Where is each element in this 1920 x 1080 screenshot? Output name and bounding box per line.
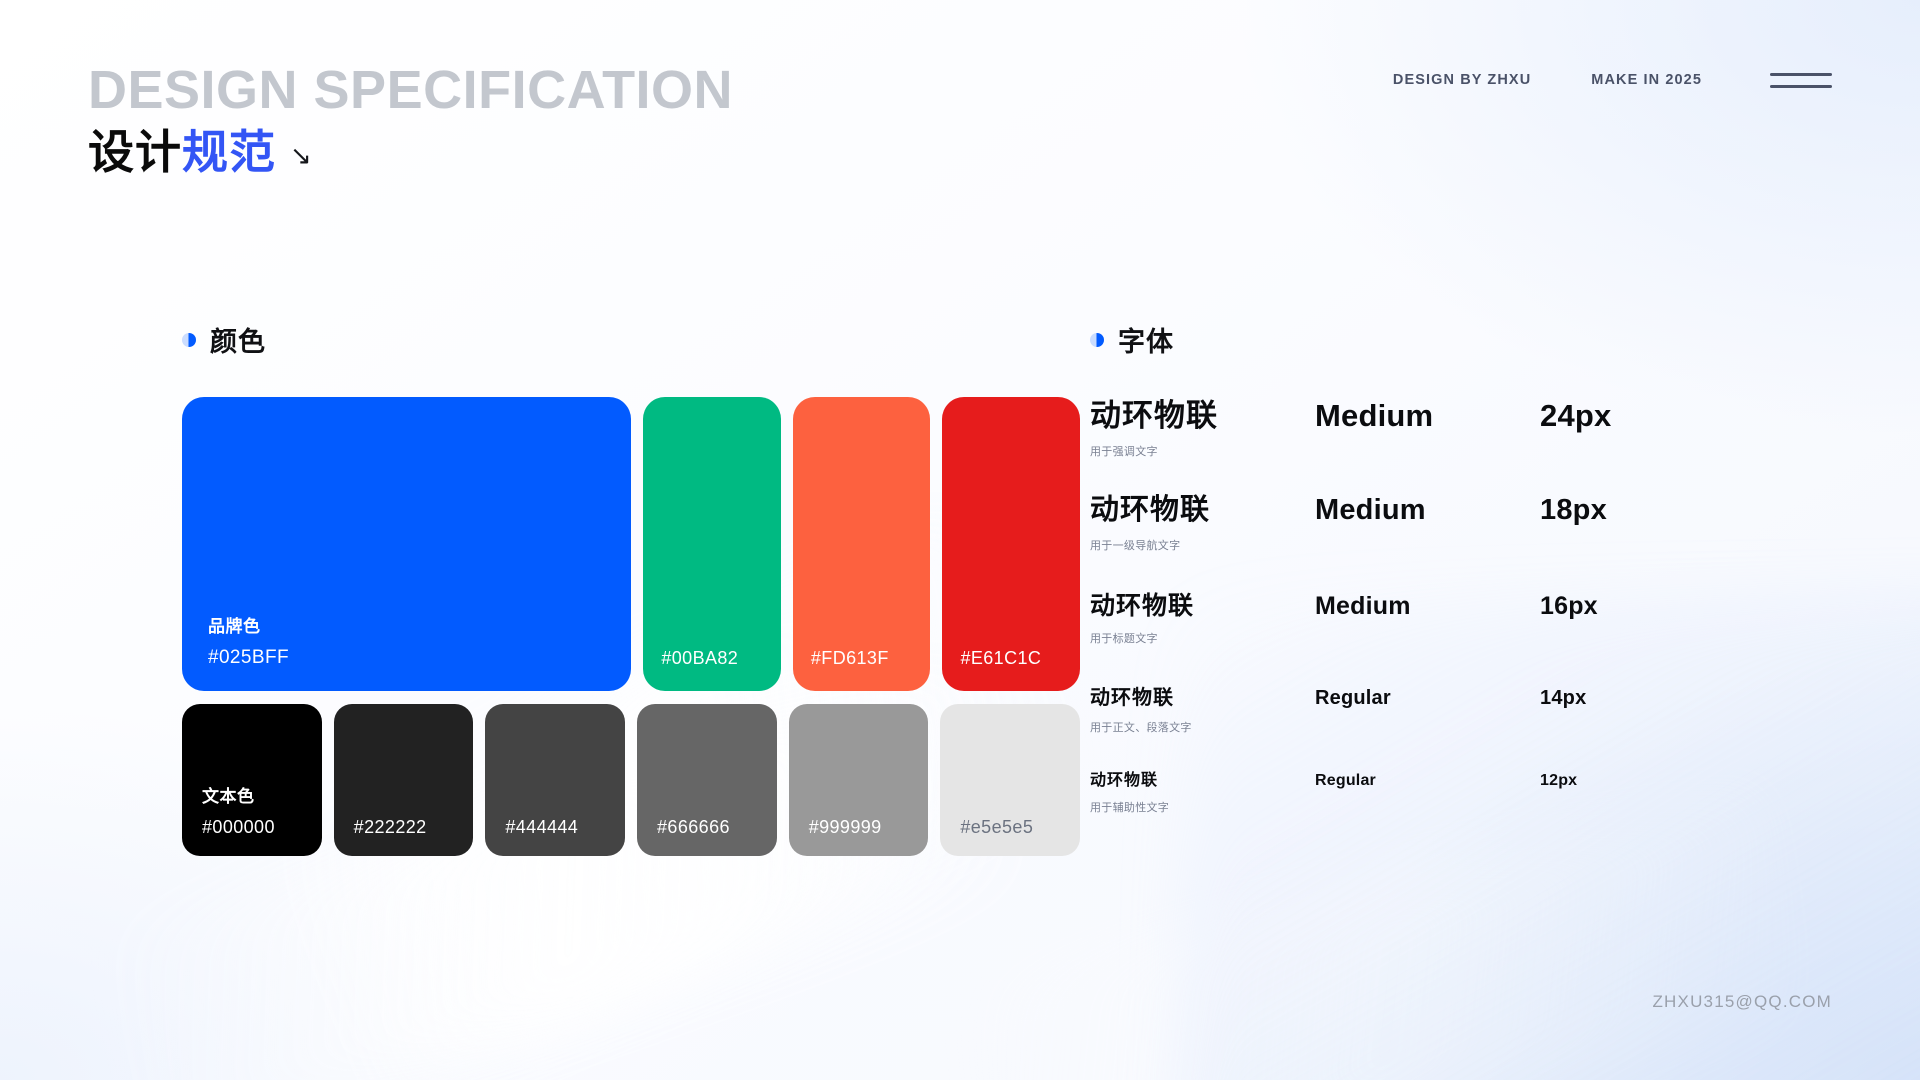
color-swatch-hex: #222222 [354, 817, 474, 838]
typography-sample-cell: 动环物联 用于正文、段落文字 [1090, 686, 1315, 735]
typography-row: 动环物联 用于正文、段落文字 Regular 14px [1090, 686, 1920, 735]
colors-panel: 颜色 品牌色 #025BFF #00BA82 #FD613F #E61C1C [0, 320, 1080, 856]
typography-sample-text: 动环物联 [1090, 397, 1315, 434]
typography-weight: Medium [1315, 397, 1540, 434]
color-swatch-neutral[interactable]: #444444 [485, 704, 625, 856]
typography-sample-cell: 动环物联 用于辅助性文字 [1090, 771, 1315, 815]
color-swatch-neutral[interactable]: 文本色 #000000 [182, 704, 322, 856]
color-swatch-name: 品牌色 [208, 612, 631, 637]
typography-size: 12px [1540, 771, 1577, 790]
title-block: DESIGN SPECIFICATION 设计规范 ↘ [88, 62, 733, 178]
page-title-cn-row: 设计规范 ↘ [88, 127, 733, 179]
dot-icon [1090, 333, 1104, 347]
typography-row: 动环物联 用于辅助性文字 Regular 12px [1090, 771, 1920, 815]
color-swatch-hex: #666666 [657, 817, 777, 838]
typography-sample-text: 动环物联 [1090, 591, 1315, 621]
typography-weight: Medium [1315, 591, 1540, 621]
dot-icon [182, 333, 196, 347]
typography-section-header: 字体 [1090, 320, 1920, 359]
typography-sample-text: 动环物联 [1090, 771, 1315, 790]
typography-row: 动环物联 用于强调文字 Medium 24px [1090, 397, 1920, 459]
header-meta: DESIGN BY ZHXU MAKE IN 2025 [1393, 72, 1832, 88]
typography-size: 18px [1540, 493, 1607, 528]
typography-usage-note: 用于一级导航文字 [1090, 537, 1315, 553]
typography-weight: Medium [1315, 493, 1540, 528]
typography-usage-note: 用于正文、段落文字 [1090, 719, 1315, 735]
color-swatch-row-neutral: 文本色 #000000 #222222 #444444 #666666 #999… [182, 704, 1080, 856]
colors-section-title: 颜色 [210, 320, 266, 359]
typography-size: 24px [1540, 397, 1611, 434]
typography-section-title: 字体 [1118, 320, 1174, 359]
color-swatch-hex: #444444 [505, 817, 625, 838]
typography-sample-cell: 动环物联 用于一级导航文字 [1090, 493, 1315, 553]
typography-panel: 字体 动环物联 用于强调文字 Medium 24px 动环物联 用于一级导航文字… [1080, 320, 1920, 856]
typography-sample-cell: 动环物联 用于标题文字 [1090, 591, 1315, 646]
colors-section-header: 颜色 [182, 320, 1080, 359]
header-year-credit: MAKE IN 2025 [1591, 72, 1702, 88]
page-title-cn: 设计规范 [88, 127, 276, 179]
color-swatch-accent[interactable]: #00BA82 [643, 397, 781, 691]
typography-usage-note: 用于标题文字 [1090, 630, 1315, 646]
arrow-down-right-icon: ↘ [290, 142, 312, 178]
color-swatch-row-primary: 品牌色 #025BFF #00BA82 #FD613F #E61C1C [182, 397, 1080, 691]
hamburger-line [1770, 85, 1832, 88]
typography-usage-note: 用于强调文字 [1090, 443, 1315, 459]
color-swatch-hex: #E61C1C [960, 648, 1080, 669]
typography-row: 动环物联 用于标题文字 Medium 16px [1090, 591, 1920, 646]
color-swatch-accent[interactable]: #FD613F [793, 397, 931, 691]
hamburger-line [1770, 73, 1832, 76]
typography-size: 14px [1540, 686, 1586, 710]
main-content: 颜色 品牌色 #025BFF #00BA82 #FD613F #E61C1C [0, 320, 1920, 856]
page-title-cn-primary: 设计 [88, 126, 182, 178]
color-swatch-neutral[interactable]: #222222 [334, 704, 474, 856]
page-header: DESIGN SPECIFICATION 设计规范 ↘ DESIGN BY ZH… [0, 0, 1920, 200]
color-swatch-neutral[interactable]: #666666 [637, 704, 777, 856]
color-swatch-accent[interactable]: #E61C1C [942, 397, 1080, 691]
typography-row: 动环物联 用于一级导航文字 Medium 18px [1090, 493, 1920, 553]
color-swatch-neutral[interactable]: #999999 [789, 704, 929, 856]
page-title-en: DESIGN SPECIFICATION [88, 62, 733, 119]
typography-sample-text: 动环物联 [1090, 493, 1315, 528]
hamburger-menu-icon[interactable] [1762, 73, 1832, 88]
color-swatch-hex: #999999 [809, 817, 929, 838]
color-swatch-name: 文本色 [202, 782, 322, 807]
design-spec-page: DESIGN SPECIFICATION 设计规范 ↘ DESIGN BY ZH… [0, 0, 1920, 1080]
typography-usage-note: 用于辅助性文字 [1090, 799, 1315, 815]
typography-weight: Regular [1315, 771, 1540, 790]
color-swatch-neutral[interactable]: #e5e5e5 [940, 704, 1080, 856]
color-swatch-hex: #025BFF [208, 647, 631, 669]
page-title-cn-accent: 规范 [182, 126, 276, 178]
typography-sample-text: 动环物联 [1090, 686, 1315, 710]
header-designer-credit: DESIGN BY ZHXU [1393, 72, 1531, 88]
color-swatch-hex: #FD613F [811, 648, 931, 669]
typography-sample-cell: 动环物联 用于强调文字 [1090, 397, 1315, 459]
color-swatch-hex: #000000 [202, 817, 322, 838]
color-swatch-hex: #e5e5e5 [960, 817, 1080, 838]
typography-weight: Regular [1315, 686, 1540, 710]
color-swatch-hex: #00BA82 [661, 648, 781, 669]
color-swatch-brand[interactable]: 品牌色 #025BFF [182, 397, 631, 691]
footer-email: ZHXU315@QQ.COM [1652, 992, 1832, 1012]
typography-size: 16px [1540, 591, 1598, 621]
